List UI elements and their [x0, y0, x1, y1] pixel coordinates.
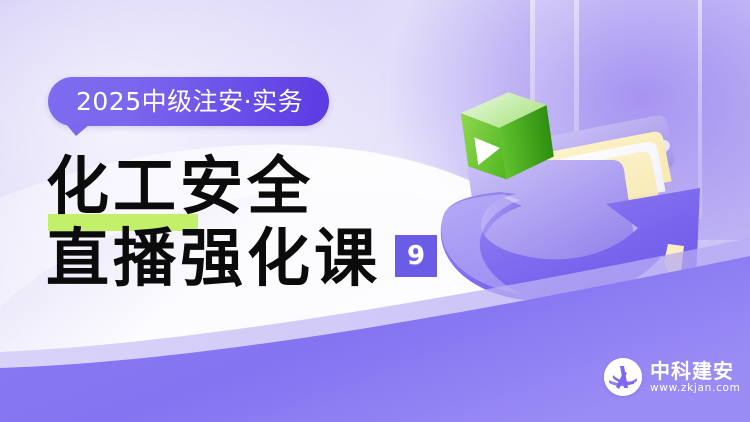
- zkjan-circle-mark-icon: [604, 358, 642, 396]
- course-tag-pill: 2025中级注安·实务: [48, 77, 329, 126]
- brand-logo: 中科建安 www.zkjan.com: [604, 358, 741, 396]
- course-promo-banner: 2025中级注安·实务 化工安全 直播强化课 9 中科建安 www.zkj: [0, 0, 750, 422]
- episode-number-badge: 9: [395, 235, 437, 277]
- course-tag-label: 2025中级注安·实务: [76, 89, 303, 114]
- headline-line-2-text: 直播强化课: [46, 222, 381, 294]
- pill-tail-pointer: [66, 124, 90, 136]
- course-tag-badge: 2025中级注安·实务: [48, 77, 329, 126]
- headline-block: 化工安全 直播强化课 9: [46, 150, 437, 294]
- headline-line-1: 化工安全: [46, 150, 437, 222]
- headline-line-1-text: 化工安全: [46, 149, 314, 223]
- brand-url: www.zkjan.com: [650, 383, 741, 394]
- brand-name: 中科建安: [650, 361, 741, 381]
- brand-logo-texts: 中科建安 www.zkjan.com: [650, 361, 741, 394]
- headline-line-2: 直播强化课 9: [46, 222, 437, 294]
